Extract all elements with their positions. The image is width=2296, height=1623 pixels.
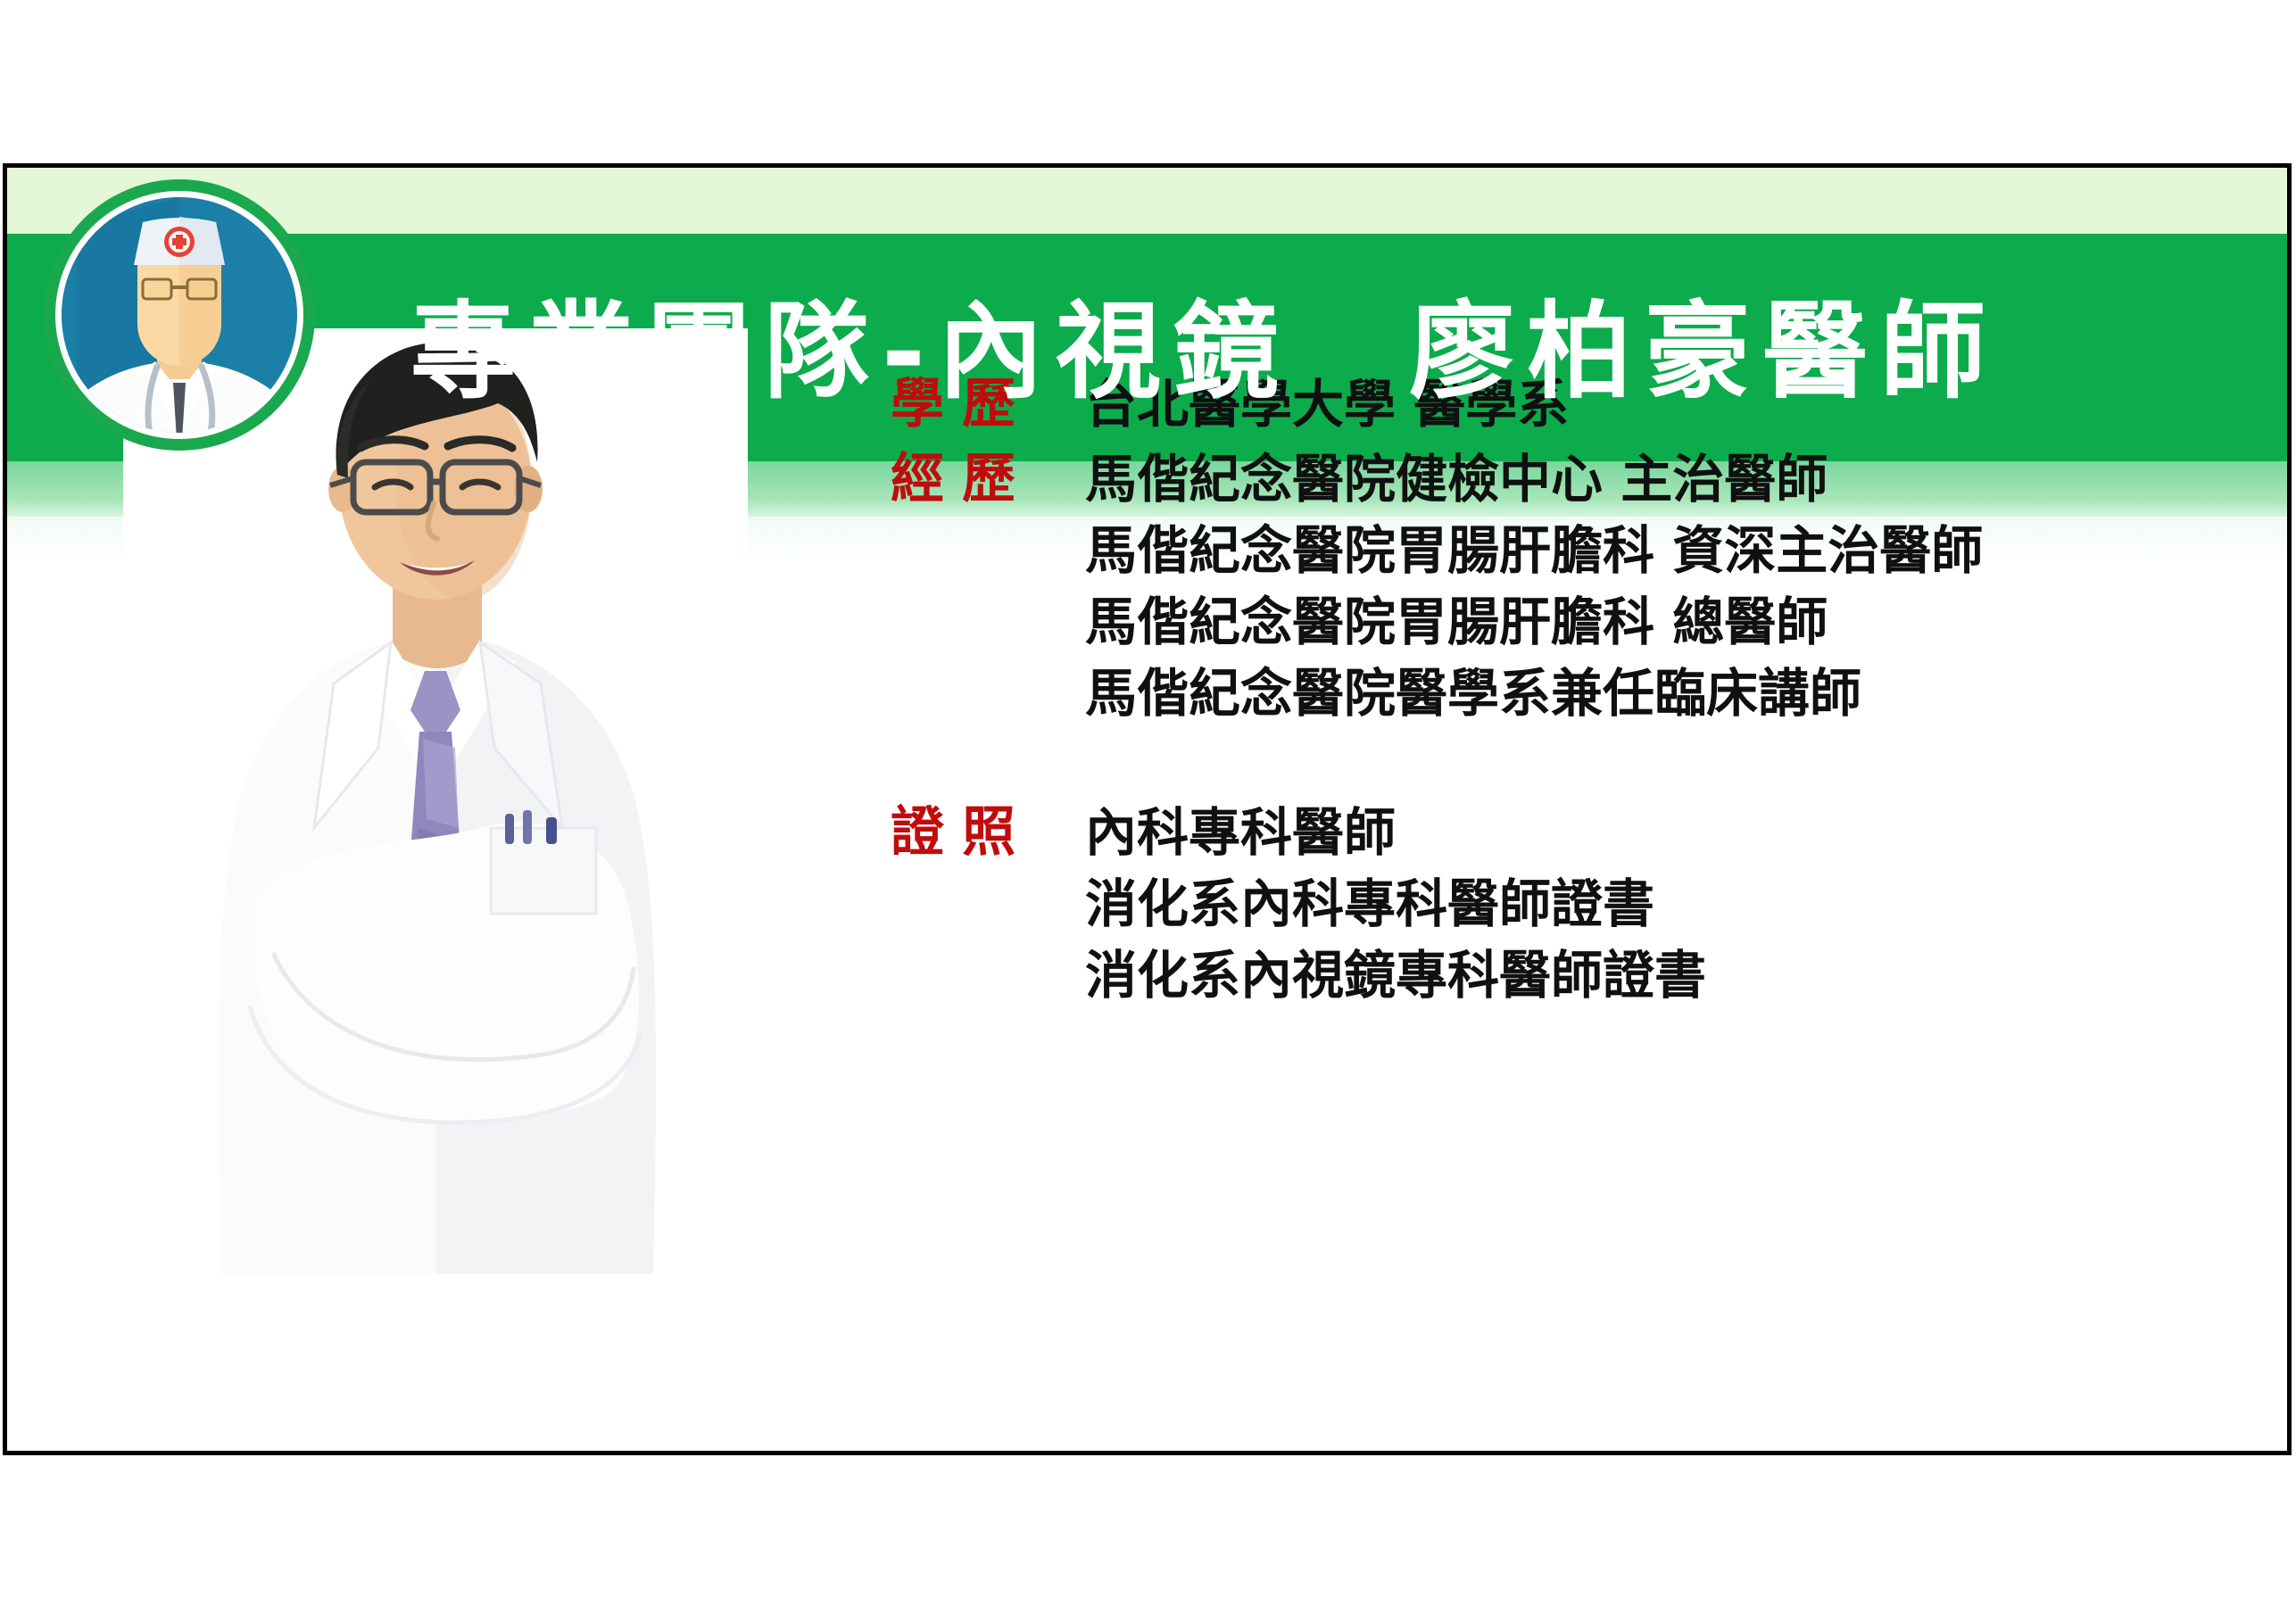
profile-section-experience: 經歷 馬偕紀念醫院健檢中心 主治醫師 馬偕紀念醫院胃腸肝膽科 資深主治醫師 馬偕… (891, 443, 2247, 729)
profile-info: 學歷 台北醫學大學 醫學系 經歷 馬偕紀念醫院健檢中心 主治醫師 馬偕紀念醫院胃… (891, 368, 2247, 1014)
section-spacer (891, 733, 2247, 797)
poster-page: 專業團隊-內視鏡 廖柏豪醫師 (0, 0, 2296, 1623)
page-title: 專業團隊-內視鏡 廖柏豪醫師 (410, 255, 1998, 429)
profile-section-certification: 證照 內科專科醫師 消化系內科專科醫師證書 消化系內視鏡專科醫師證書 (891, 797, 2247, 1011)
doctor-avatar-icon (41, 172, 318, 458)
profile-line: 消化系內科專科醫師證書 (1085, 868, 2247, 940)
section-label-experience: 經歷 (891, 443, 1085, 515)
profile-line: 馬偕紀念醫院胃腸肝膽科 資深主治醫師 (1085, 515, 2247, 586)
section-values-experience: 馬偕紀念醫院健檢中心 主治醫師 馬偕紀念醫院胃腸肝膽科 資深主治醫師 馬偕紀念醫… (1085, 443, 2247, 729)
profile-line: 消化系內視鏡專科醫師證書 (1085, 940, 2247, 1011)
section-label-certification: 證照 (891, 797, 1085, 868)
profile-line: 馬偕紀念醫院健檢中心 主治醫師 (1085, 443, 2247, 515)
doctor-portrait (123, 328, 748, 1274)
section-values-certification: 內科專科醫師 消化系內科專科醫師證書 消化系內視鏡專科醫師證書 (1085, 797, 2247, 1011)
profile-line: 馬偕紀念醫院醫學系兼任臨床講師 (1085, 658, 2247, 729)
profile-line: 內科專科醫師 (1085, 797, 2247, 868)
poster-frame: 專業團隊-內視鏡 廖柏豪醫師 (3, 163, 2292, 1455)
banner-light-band (7, 168, 2287, 234)
profile-line: 馬偕紀念醫院胃腸肝膽科 總醫師 (1085, 586, 2247, 658)
